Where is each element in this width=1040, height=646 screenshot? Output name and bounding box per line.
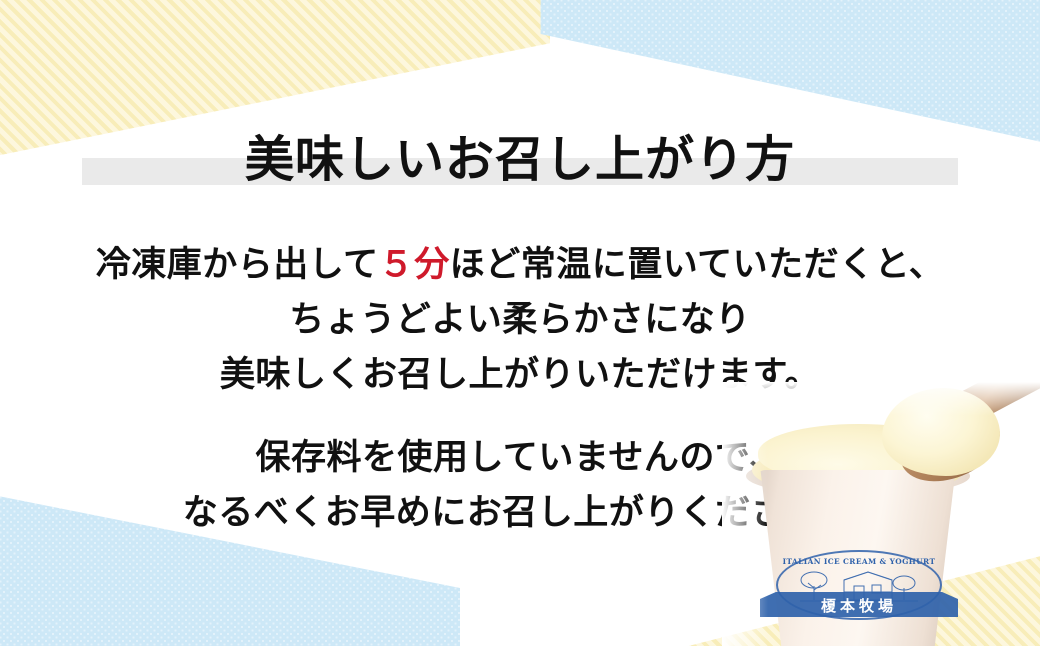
- logo-arc-text: ITALIAN ICE CREAM & YOGHURT: [776, 557, 942, 566]
- paragraph1-line1-part2: ほど常温に置いていただくと、: [450, 245, 945, 285]
- paragraph1-line1: 冷凍庫から出して５分ほど常温に置いていただくと、: [0, 238, 1040, 293]
- paragraph-serving-instructions: 冷凍庫から出して５分ほど常温に置いていただくと、 ちょうどよい柔らかさになり 美…: [0, 238, 1040, 403]
- paragraph1-line1-part1: 冷凍庫から出して: [96, 245, 379, 285]
- logo-brand-name: 榎本牧場: [760, 595, 958, 616]
- paragraph1-line1-highlight: ５分: [379, 245, 450, 285]
- logo-ribbon-banner: 榎本牧場: [760, 592, 958, 617]
- promo-banner: 美味しいお召し上がり方 冷凍庫から出して５分ほど常温に置いていただくと、 ちょう…: [0, 0, 1040, 646]
- photo-edge-fade-left: [722, 382, 768, 646]
- icecream-product-photo: ITALIAN ICE CREAM & YOGHURT: [722, 382, 1040, 646]
- photo-edge-fade-top: [722, 382, 1040, 416]
- heading-block: 美味しいお召し上がり方: [0, 96, 1040, 196]
- paragraph1-line2: ちょうどよい柔らかさになり: [0, 293, 1040, 348]
- page-title: 美味しいお召し上がり方: [0, 129, 1040, 190]
- cup-logo: ITALIAN ICE CREAM & YOGHURT: [776, 550, 942, 620]
